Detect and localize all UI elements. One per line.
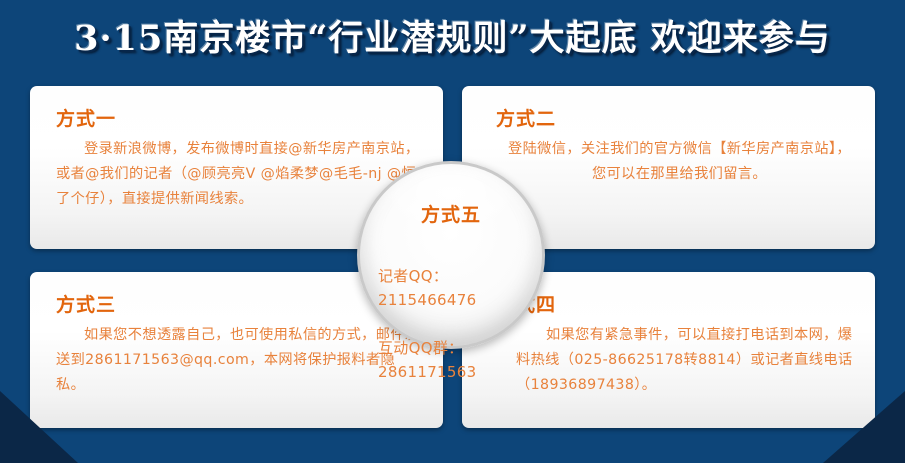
method-five-circle: 方式五 记者QQ：2115466476 互动QQ群：2861171563 <box>357 161 545 349</box>
poster-root: 3·15南京楼市“行业潜规则”大起底 欢迎来参与 方式一 登录新浪微博，发布微博… <box>0 0 905 463</box>
card-4-title: 方式四 <box>488 290 853 317</box>
card-1-title: 方式一 <box>56 104 421 131</box>
circle-contact-lines: 记者QQ：2115466476 互动QQ群：2861171563 <box>360 240 542 408</box>
corner-triangle-bottom-right <box>823 391 905 463</box>
reporter-qq-line: 记者QQ：2115466476 <box>378 264 542 312</box>
card-2-title: 方式二 <box>488 104 853 131</box>
page-title: 3·15南京楼市“行业潜规则”大起底 欢迎来参与 <box>0 8 905 70</box>
group-qq-line: 互动QQ群：2861171563 <box>378 336 542 384</box>
card-2-body: 登陆微信，关注我们的官方微信【新华房产南京站】，您可以在那里给我们留言。 <box>488 137 853 187</box>
circle-title: 方式五 <box>360 200 542 227</box>
card-4-body: 如果您有紧急事件，可以直接打电话到本网，爆料热线（025-86625178转88… <box>488 323 853 398</box>
corner-triangle-bottom-left <box>0 391 78 463</box>
